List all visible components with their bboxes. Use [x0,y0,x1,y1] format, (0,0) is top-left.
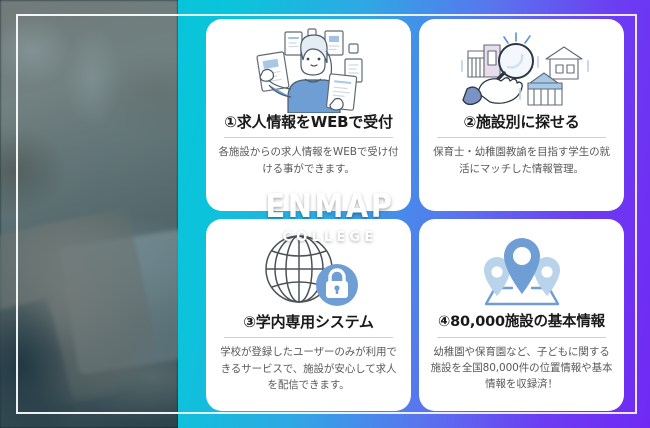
person-holding-documents-icon [217,26,400,114]
card-title: ④80,000施設の基本情報 [438,314,605,331]
card-title: ②施設別に探せる [463,114,579,131]
card-body: 学校が登録したユーザーのみが利用できるサービスで、施設が安心して求人を配信できま… [217,344,400,393]
promo-banner: ENMAP COLLEGE [0,0,650,428]
card-divider [437,137,605,138]
card-title: ③学内専用システム [243,314,373,331]
feature-card-search-by-facility[interactable]: ②施設別に探せる 保育士・幼稚園教諭を目指す学生の就活にマッチした情報管理。 [419,19,624,211]
brand-name: ENMAP [10,190,650,222]
card-body: 幼稚園や保育園など、子どもに関する施設を全国80,000件の位置情報や基本情報を… [430,344,613,393]
card-body: 保育士・幼稚園教諭を目指す学生の就活にマッチした情報管理。 [430,144,613,177]
brand-logo: ENMAP COLLEGE [0,192,650,245]
magnifying-glass-buildings-icon [430,26,613,114]
card-body: 各施設からの求人情報をWEBで受け付ける事ができます。 [217,144,400,177]
card-divider [224,137,392,138]
feature-card-facility-basic-info[interactable]: ④80,000施設の基本情報 幼稚園や保育園など、子どもに関する施設を全国80,… [419,219,624,411]
card-divider [437,337,605,338]
card-title: ①求人情報をWEBで受付 [224,114,393,131]
card-divider [224,337,392,338]
feature-card-web-reception[interactable]: ①求人情報をWEBで受付 各施設からの求人情報をWEBで受け付ける事ができます。 [206,19,411,211]
brand-subtitle: COLLEGE [10,230,650,245]
feature-card-campus-only-system[interactable]: ③学内専用システム 学校が登録したユーザーのみが利用できるサービスで、施設が安心… [206,219,411,411]
